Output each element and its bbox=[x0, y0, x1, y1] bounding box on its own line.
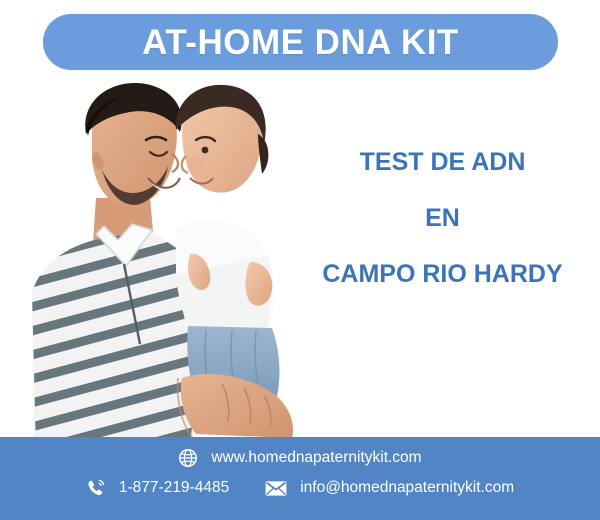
phone-icon bbox=[86, 478, 106, 498]
header-badge-label: AT-HOME DNA KIT bbox=[142, 25, 459, 60]
footer-contact-bar: www.homednapaternitykit.com 1-877-219-44… bbox=[0, 437, 600, 520]
headline-line-2: EN bbox=[300, 206, 585, 231]
poster-canvas: AT-HOME DNA KIT bbox=[0, 0, 600, 520]
website-label: www.homednapaternitykit.com bbox=[211, 450, 421, 466]
phone-label: 1-877-219-4485 bbox=[119, 480, 229, 496]
phone-contact-item[interactable]: 1-877-219-4485 bbox=[86, 478, 229, 498]
headline-line-3: CAMPO RIO HARDY bbox=[300, 262, 585, 287]
photo-illustration bbox=[0, 78, 320, 458]
headline-block: TEST DE ADN EN CAMPO RIO HARDY bbox=[300, 150, 585, 287]
header-badge: AT-HOME DNA KIT bbox=[43, 14, 558, 70]
email-contact-item[interactable]: info@homednapaternitykit.com bbox=[265, 480, 514, 497]
father-and-child-photo bbox=[0, 78, 320, 458]
email-label: info@homednapaternitykit.com bbox=[300, 480, 514, 496]
headline-line-1: TEST DE ADN bbox=[300, 150, 585, 175]
envelope-icon bbox=[265, 480, 287, 497]
website-contact-item[interactable]: www.homednapaternitykit.com bbox=[178, 448, 421, 468]
footer-contact-row: 1-877-219-4485 info@homednapaternitykit.… bbox=[0, 478, 600, 498]
footer-website-row: www.homednapaternitykit.com bbox=[0, 448, 600, 468]
globe-icon bbox=[178, 448, 198, 468]
